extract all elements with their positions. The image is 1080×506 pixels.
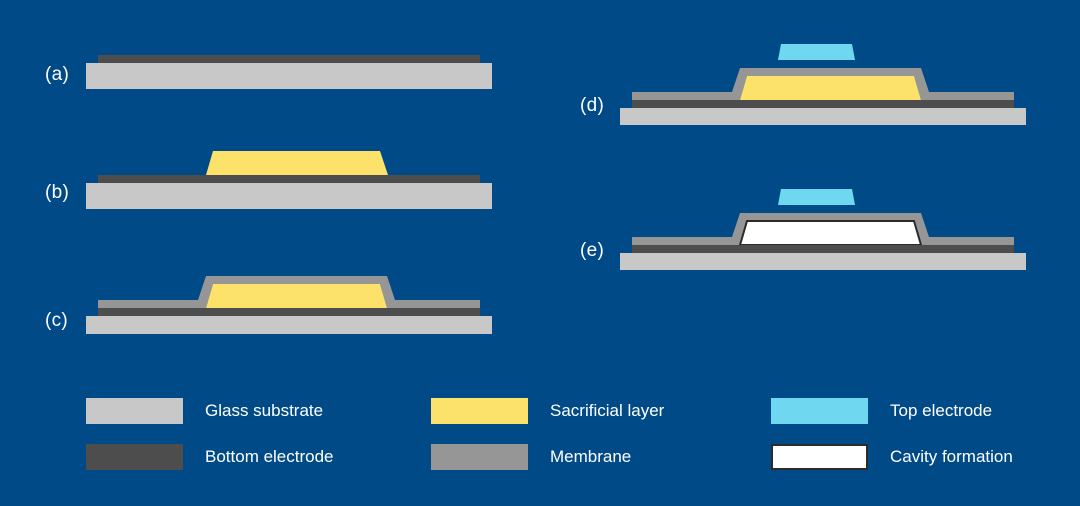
legend: Glass substrate Sacrificial layer Top el… bbox=[86, 388, 1026, 480]
legend-label-membrane: Membrane bbox=[550, 447, 631, 467]
panel-diagram-d bbox=[614, 40, 1034, 125]
legend-swatch-glass-substrate bbox=[86, 398, 183, 424]
bottom-electrode-layer bbox=[98, 308, 480, 316]
bottom-electrode-layer bbox=[98, 55, 480, 63]
legend-item-bottom-electrode: Bottom electrode bbox=[86, 441, 431, 473]
glass-substrate-layer bbox=[86, 183, 492, 209]
legend-swatch-membrane bbox=[431, 444, 528, 470]
legend-label-top-electrode: Top electrode bbox=[890, 401, 992, 421]
panel-diagram-b bbox=[80, 145, 500, 210]
panel-label-b: (b) bbox=[45, 182, 69, 204]
legend-swatch-bottom-electrode bbox=[86, 444, 183, 470]
legend-swatch-sacrificial-layer bbox=[431, 398, 528, 424]
legend-label-cavity-formation: Cavity formation bbox=[890, 447, 1013, 467]
panel-diagram-a bbox=[80, 45, 500, 100]
bottom-electrode-layer bbox=[632, 245, 1014, 253]
sacrificial-layer-trapezoid bbox=[206, 151, 388, 175]
legend-item-membrane: Membrane bbox=[431, 441, 771, 473]
panel-label-e: (e) bbox=[580, 240, 604, 262]
bottom-electrode-layer bbox=[632, 100, 1014, 108]
glass-substrate-layer bbox=[86, 63, 492, 89]
panel-diagram-e bbox=[614, 185, 1034, 270]
glass-substrate-layer bbox=[620, 253, 1026, 270]
legend-item-cavity-formation: Cavity formation bbox=[771, 441, 1026, 473]
legend-swatch-top-electrode bbox=[771, 398, 868, 424]
sacrificial-layer-trapezoid bbox=[740, 76, 921, 100]
legend-item-top-electrode: Top electrode bbox=[771, 395, 1026, 427]
legend-label-sacrificial-layer: Sacrificial layer bbox=[550, 401, 664, 421]
bottom-electrode-layer bbox=[98, 175, 480, 183]
legend-item-sacrificial-layer: Sacrificial layer bbox=[431, 395, 771, 427]
panel-diagram-c bbox=[80, 262, 500, 334]
glass-substrate-layer bbox=[86, 316, 492, 334]
cavity-formation-region bbox=[740, 221, 921, 245]
panel-label-a: (a) bbox=[45, 64, 69, 86]
sacrificial-layer-trapezoid bbox=[206, 284, 387, 308]
panel-label-c: (c) bbox=[45, 310, 68, 332]
legend-swatch-cavity-formation bbox=[771, 444, 868, 470]
glass-substrate-layer bbox=[620, 108, 1026, 125]
legend-label-bottom-electrode: Bottom electrode bbox=[205, 447, 334, 467]
top-electrode-trapezoid bbox=[778, 189, 855, 205]
panel-label-d: (d) bbox=[580, 95, 604, 117]
top-electrode-trapezoid bbox=[778, 44, 855, 60]
legend-item-glass-substrate: Glass substrate bbox=[86, 395, 431, 427]
figure-canvas: (a) (b) (c) (d) (e) bbox=[0, 0, 1080, 506]
legend-label-glass-substrate: Glass substrate bbox=[205, 401, 323, 421]
